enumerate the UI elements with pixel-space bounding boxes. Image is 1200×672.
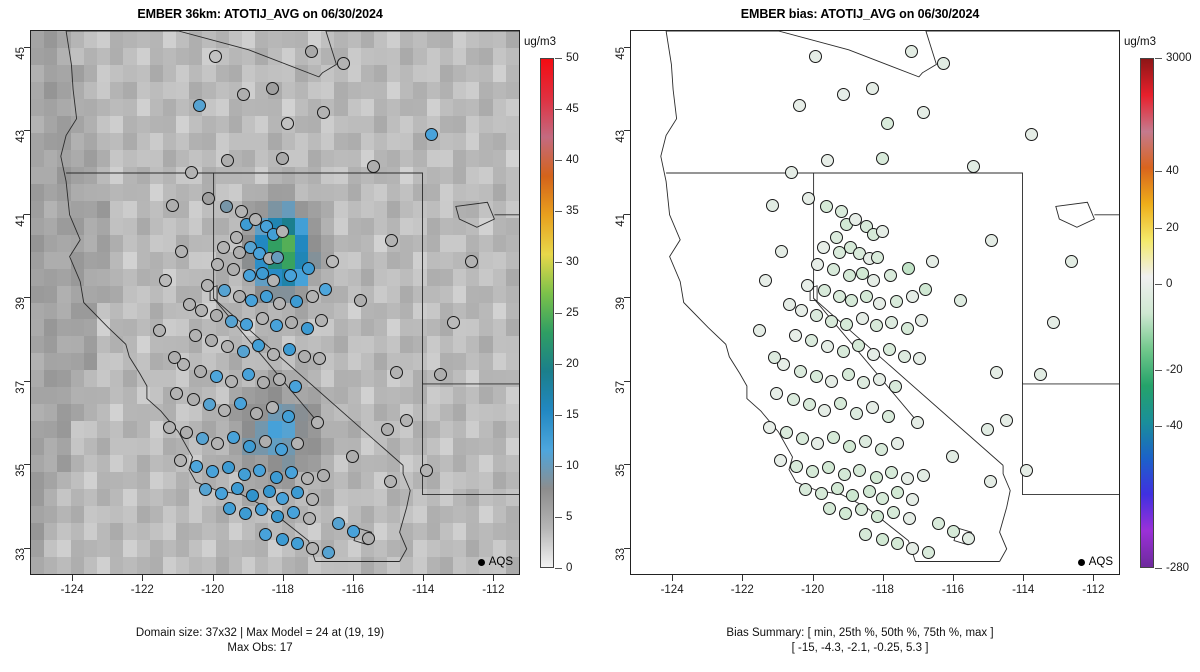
station-marker[interactable] — [759, 274, 772, 287]
colorbar-tick — [555, 517, 562, 518]
station-marker[interactable] — [780, 426, 793, 439]
station-marker[interactable] — [871, 251, 884, 264]
station-marker[interactable] — [420, 464, 433, 477]
station-marker[interactable] — [238, 468, 251, 481]
station-marker[interactable] — [825, 375, 838, 388]
station-marker[interactable] — [845, 294, 858, 307]
station-marker[interactable] — [802, 192, 815, 205]
colorbar-tick — [555, 160, 562, 161]
station-marker[interactable] — [915, 314, 928, 327]
y-tick-label: 37 — [615, 381, 627, 394]
x-tick — [672, 575, 673, 581]
x-tick — [493, 575, 494, 581]
lake-path — [1056, 202, 1095, 227]
y-tick-label: 33 — [615, 548, 627, 561]
station-marker[interactable] — [917, 469, 930, 482]
station-marker[interactable] — [860, 290, 873, 303]
y-tick-label: 35 — [615, 464, 627, 477]
x-tick-label: -122 — [131, 584, 154, 596]
station-marker[interactable] — [166, 199, 179, 212]
station-marker[interactable] — [822, 461, 835, 474]
colorbar-tick — [1155, 568, 1162, 569]
station-marker[interactable] — [252, 339, 265, 352]
station-marker[interactable] — [901, 322, 914, 335]
station-marker[interactable] — [795, 304, 808, 317]
station-marker[interactable] — [884, 269, 897, 282]
station-marker[interactable] — [315, 314, 328, 327]
colorbar-tick — [555, 364, 562, 365]
colorbar-tick — [1155, 284, 1162, 285]
colorbar-tick — [1155, 58, 1162, 59]
station-marker[interactable] — [867, 274, 880, 287]
map-plot-left[interactable]: AQS — [30, 30, 520, 575]
station-marker[interactable] — [231, 482, 244, 495]
station-marker[interactable] — [857, 376, 870, 389]
colorbar-tick — [555, 415, 562, 416]
y-tick-label: 35 — [15, 464, 27, 477]
station-marker[interactable] — [883, 343, 896, 356]
station-marker[interactable] — [947, 525, 960, 538]
station-marker[interactable] — [852, 339, 865, 352]
colorbar-units-right: ug/m3 — [1124, 36, 1156, 48]
station-marker[interactable] — [1000, 414, 1013, 427]
station-marker[interactable] — [354, 294, 367, 307]
station-marker[interactable] — [187, 393, 200, 406]
station-marker[interactable] — [347, 525, 360, 538]
station-marker[interactable] — [242, 368, 255, 381]
colorbar-left[interactable]: ug/m3 05101520253035404550 — [528, 58, 608, 573]
colorbar-tick-label: 5 — [566, 511, 572, 523]
x-tick-label: -124 — [61, 584, 84, 596]
y-tick-label: 43 — [615, 130, 627, 143]
state-border-path — [1023, 382, 1120, 495]
y-tick-label: 37 — [15, 381, 27, 394]
station-marker[interactable] — [306, 542, 319, 555]
colorbar-tick-label: 0 — [1166, 278, 1172, 290]
station-marker[interactable] — [217, 241, 230, 254]
station-marker[interactable] — [289, 380, 302, 393]
x-tick — [283, 575, 284, 581]
station-marker[interactable] — [400, 414, 413, 427]
colorbar-tick — [555, 568, 562, 569]
x-tick — [213, 575, 214, 581]
colorbar-tick-label: -40 — [1166, 420, 1183, 432]
station-marker[interactable] — [855, 503, 868, 516]
colorbar-tick-label: -280 — [1166, 562, 1189, 574]
station-marker[interactable] — [202, 192, 215, 205]
station-marker[interactable] — [821, 340, 834, 353]
station-marker[interactable] — [796, 432, 809, 445]
caption-left-line1: Domain size: 37x32 | Max Model = 24 at (… — [0, 626, 520, 641]
station-marker[interactable] — [922, 546, 935, 559]
colorbar-tick — [1155, 171, 1162, 172]
state-border-path — [1000, 465, 1011, 561]
x-axis-right: -124-122-120-118-116-114-112 — [630, 575, 1120, 615]
caption-right-line2: [ -15, -4.3, -2.1, -0.25, 5.3 ] — [600, 641, 1120, 656]
colorbar-tick — [555, 109, 562, 110]
station-marker[interactable] — [891, 537, 904, 550]
station-marker[interactable] — [255, 503, 268, 516]
station-marker[interactable] — [870, 471, 883, 484]
station-marker[interactable] — [790, 460, 803, 473]
colorbar-tick — [1155, 228, 1162, 229]
station-marker[interactable] — [221, 340, 234, 353]
station-marker[interactable] — [837, 88, 850, 101]
station-marker[interactable] — [194, 365, 207, 378]
station-marker[interactable] — [890, 295, 903, 308]
x-tick-label: -124 — [661, 584, 684, 596]
station-marker[interactable] — [189, 329, 202, 342]
station-marker[interactable] — [871, 510, 884, 523]
y-axis-left: 33353739414345 — [0, 30, 30, 575]
station-marker[interactable] — [794, 365, 807, 378]
station-marker[interactable] — [775, 245, 788, 258]
page-title-right: EMBER bias: ATOTIJ_AVG on 06/30/2024 — [600, 7, 1120, 21]
x-tick — [142, 575, 143, 581]
station-marker[interactable] — [317, 106, 330, 119]
colorbar-gradient-right — [1140, 58, 1154, 568]
station-marker[interactable] — [175, 245, 188, 258]
station-marker[interactable] — [298, 350, 311, 363]
colorbar-right[interactable]: ug/m3 -280-40-20020403000 — [1128, 58, 1200, 573]
x-axis-left: -124-122-120-118-116-114-112 — [30, 575, 520, 615]
state-border-path — [423, 382, 520, 495]
colorbar-tick — [1155, 370, 1162, 371]
station-marker[interactable] — [159, 274, 172, 287]
station-marker[interactable] — [250, 407, 263, 420]
x-tick-label: -116 — [342, 584, 364, 596]
station-marker[interactable] — [260, 290, 273, 303]
station-marker[interactable] — [263, 485, 276, 498]
station-marker[interactable] — [243, 269, 256, 282]
station-marker[interactable] — [271, 510, 284, 523]
station-marker[interactable] — [222, 461, 235, 474]
station-marker[interactable] — [221, 154, 234, 167]
station-marker[interactable] — [887, 506, 900, 519]
x-tick-label: -114 — [1012, 584, 1034, 596]
station-marker[interactable] — [225, 375, 238, 388]
y-axis-right: 33353739414345 — [600, 30, 630, 575]
station-marker[interactable] — [332, 517, 345, 530]
station-marker[interactable] — [276, 225, 289, 238]
colorbar-units-left: ug/m3 — [524, 36, 556, 48]
station-marker[interactable] — [1034, 368, 1047, 381]
station-marker[interactable] — [876, 152, 889, 165]
map-plot-right[interactable]: AQS — [630, 30, 1120, 575]
figure-root: EMBER 36km: ATOTIJ_AVG on 06/30/2024 AQS… — [0, 0, 1200, 672]
station-marker[interactable] — [793, 99, 806, 112]
x-tick-label: -118 — [872, 584, 894, 596]
station-marker[interactable] — [266, 82, 279, 95]
station-marker[interactable] — [237, 88, 250, 101]
station-marker[interactable] — [905, 45, 918, 58]
colorbar-tick — [1155, 426, 1162, 427]
station-marker[interactable] — [235, 205, 248, 218]
station-marker[interactable] — [243, 440, 256, 453]
station-marker[interactable] — [906, 290, 919, 303]
station-marker[interactable] — [273, 297, 286, 310]
colorbar-tick — [555, 466, 562, 467]
colorbar-tick-label: 15 — [566, 409, 579, 421]
station-marker[interactable] — [285, 316, 298, 329]
station-marker[interactable] — [831, 482, 844, 495]
station-marker[interactable] — [801, 279, 814, 292]
lake-path — [456, 202, 495, 227]
station-marker[interactable] — [180, 426, 193, 439]
station-marker[interactable] — [193, 99, 206, 112]
station-marker[interactable] — [282, 410, 295, 423]
station-marker[interactable] — [787, 393, 800, 406]
x-tick — [423, 575, 424, 581]
station-marker[interactable] — [903, 512, 916, 525]
y-tick-label: 45 — [15, 47, 27, 60]
station-marker[interactable] — [882, 410, 895, 423]
station-marker[interactable] — [185, 166, 198, 179]
station-marker[interactable] — [753, 324, 766, 337]
station-marker[interactable] — [434, 368, 447, 381]
state-border-path — [66, 31, 519, 77]
x-tick — [72, 575, 73, 581]
station-marker[interactable] — [876, 533, 889, 546]
station-marker[interactable] — [902, 262, 915, 275]
x-tick-label: -120 — [201, 584, 224, 596]
station-marker[interactable] — [919, 283, 932, 296]
station-marker[interactable] — [276, 492, 289, 505]
station-marker[interactable] — [291, 437, 304, 450]
x-tick — [813, 575, 814, 581]
station-marker[interactable] — [866, 82, 879, 95]
station-marker[interactable] — [425, 128, 438, 141]
station-marker[interactable] — [827, 431, 840, 444]
colorbar-tick-label: 35 — [566, 205, 579, 217]
colorbar-tick-label: 10 — [566, 460, 579, 472]
station-marker[interactable] — [346, 450, 359, 463]
panel-bias: EMBER bias: ATOTIJ_AVG on 06/30/2024 AQS… — [600, 0, 1200, 672]
station-marker[interactable] — [850, 407, 863, 420]
station-marker[interactable] — [322, 546, 335, 559]
station-marker[interactable] — [153, 324, 166, 337]
station-marker[interactable] — [1020, 464, 1033, 477]
station-marker[interactable] — [823, 502, 836, 515]
colorbar-tick-label: 0 — [566, 562, 572, 574]
colorbar-tick-label: 50 — [566, 52, 579, 64]
station-marker[interactable] — [190, 460, 203, 473]
station-marker[interactable] — [267, 274, 280, 287]
station-marker[interactable] — [311, 416, 324, 429]
station-marker[interactable] — [906, 542, 919, 555]
station-marker[interactable] — [276, 152, 289, 165]
caption-left-line2: Max Obs: 17 — [0, 641, 520, 656]
station-marker[interactable] — [954, 294, 967, 307]
station-marker[interactable] — [838, 468, 851, 481]
colorbar-tick-label: 25 — [566, 307, 579, 319]
y-tick-label: 39 — [615, 297, 627, 310]
caption-left: Domain size: 37x32 | Max Model = 24 at (… — [0, 626, 520, 656]
aqs-legend-right: AQS — [1078, 556, 1113, 568]
station-marker[interactable] — [891, 486, 904, 499]
y-tick-label: 41 — [615, 214, 627, 227]
station-marker[interactable] — [873, 297, 886, 310]
station-marker[interactable] — [319, 283, 332, 296]
x-tick — [883, 575, 884, 581]
station-marker[interactable] — [168, 351, 181, 364]
y-tick-label: 45 — [615, 47, 627, 60]
x-tick-label: -116 — [942, 584, 964, 596]
x-tick — [953, 575, 954, 581]
station-marker[interactable] — [817, 241, 830, 254]
station-marker[interactable] — [932, 517, 945, 530]
x-tick-label: -112 — [1082, 584, 1104, 596]
station-marker[interactable] — [284, 269, 297, 282]
aqs-legend-left: AQS — [478, 556, 513, 568]
aqs-legend-label: AQS — [1089, 556, 1113, 568]
x-tick-label: -118 — [272, 584, 294, 596]
aqs-legend-label: AQS — [489, 556, 513, 568]
colorbar-tick — [555, 211, 562, 212]
station-marker[interactable] — [856, 312, 869, 325]
station-marker[interactable] — [302, 262, 315, 275]
station-marker[interactable] — [818, 284, 831, 297]
colorbar-tick-label: -20 — [1166, 364, 1183, 376]
station-marker[interactable] — [337, 57, 350, 70]
station-marker[interactable] — [257, 376, 270, 389]
station-marker[interactable] — [223, 502, 236, 515]
y-tick-label: 39 — [15, 297, 27, 310]
station-marker[interactable] — [201, 279, 214, 292]
station-marker[interactable] — [875, 443, 888, 456]
station-marker[interactable] — [447, 316, 460, 329]
x-tick-label: -122 — [731, 584, 754, 596]
x-tick — [353, 575, 354, 581]
x-tick — [1023, 575, 1024, 581]
station-marker[interactable] — [245, 294, 258, 307]
station-marker[interactable] — [937, 57, 950, 70]
station-marker[interactable] — [821, 154, 834, 167]
colorbar-tick — [555, 58, 562, 59]
x-tick-label: -112 — [482, 584, 504, 596]
colorbar-tick-label: 40 — [566, 154, 579, 166]
station-marker[interactable] — [301, 322, 314, 335]
station-marker[interactable] — [898, 350, 911, 363]
station-marker[interactable] — [843, 269, 856, 282]
station-marker[interactable] — [287, 506, 300, 519]
station-marker[interactable] — [275, 443, 288, 456]
station-marker[interactable] — [317, 469, 330, 482]
station-marker[interactable] — [785, 166, 798, 179]
y-tick-label: 33 — [15, 548, 27, 561]
y-tick-label: 43 — [15, 130, 27, 143]
state-border-path — [400, 465, 411, 561]
colorbar-gradient-left — [540, 58, 554, 568]
colorbar-tick-label: 45 — [566, 103, 579, 115]
station-marker[interactable] — [195, 304, 208, 317]
station-marker[interactable] — [889, 380, 902, 393]
x-tick-label: -120 — [801, 584, 824, 596]
station-marker[interactable] — [766, 199, 779, 212]
station-marker[interactable] — [835, 205, 848, 218]
colorbar-tick-label: 20 — [1166, 222, 1179, 234]
station-marker[interactable] — [911, 416, 924, 429]
station-marker[interactable] — [774, 454, 787, 467]
station-marker[interactable] — [256, 312, 269, 325]
x-tick — [742, 575, 743, 581]
station-marker[interactable] — [276, 533, 289, 546]
station-marker[interactable] — [763, 421, 776, 434]
station-marker[interactable] — [306, 290, 319, 303]
panel-model: EMBER 36km: ATOTIJ_AVG on 06/30/2024 AQS… — [0, 0, 600, 672]
station-marker[interactable] — [863, 485, 876, 498]
station-marker[interactable] — [291, 486, 304, 499]
x-tick — [1093, 575, 1094, 581]
station-marker[interactable] — [271, 251, 284, 264]
station-marker[interactable] — [259, 528, 272, 541]
station-marker[interactable] — [891, 437, 904, 450]
station-marker[interactable] — [290, 295, 303, 308]
station-marker[interactable] — [842, 368, 855, 381]
aqs-dot-icon — [478, 559, 485, 566]
station-marker[interactable] — [283, 343, 296, 356]
station-marker[interactable] — [227, 431, 240, 444]
station-marker[interactable] — [789, 329, 802, 342]
station-marker[interactable] — [917, 106, 930, 119]
colorbar-tick — [555, 313, 562, 314]
aqs-dot-icon — [1078, 559, 1085, 566]
station-marker[interactable] — [174, 454, 187, 467]
colorbar-tick — [555, 262, 562, 263]
station-marker[interactable] — [876, 492, 889, 505]
station-marker[interactable] — [946, 450, 959, 463]
station-marker[interactable] — [270, 471, 283, 484]
x-tick-label: -114 — [412, 584, 434, 596]
station-marker[interactable] — [843, 440, 856, 453]
caption-right: Bias Summary: [ min, 25th %, 50th %, 75t… — [600, 626, 1120, 656]
station-marker[interactable] — [859, 435, 872, 448]
state-border-path — [666, 31, 1119, 77]
colorbar-tick-label: 30 — [566, 256, 579, 268]
y-tick-label: 41 — [15, 214, 27, 227]
colorbar-tick-label: 40 — [1166, 165, 1179, 177]
colorbar-tick-label: 20 — [566, 358, 579, 370]
station-marker[interactable] — [259, 435, 272, 448]
station-marker[interactable] — [291, 537, 304, 550]
station-marker[interactable] — [163, 421, 176, 434]
colorbar-tick-label: 3000 — [1166, 52, 1192, 64]
station-marker[interactable] — [1047, 316, 1060, 329]
caption-right-line1: Bias Summary: [ min, 25th %, 50th %, 75t… — [600, 626, 1120, 641]
station-marker[interactable] — [768, 351, 781, 364]
station-marker[interactable] — [196, 432, 209, 445]
station-marker[interactable] — [881, 117, 894, 130]
station-marker[interactable] — [303, 512, 316, 525]
station-marker[interactable] — [876, 225, 889, 238]
station-marker[interactable] — [1025, 128, 1038, 141]
station-marker[interactable] — [859, 528, 872, 541]
station-marker[interactable] — [218, 284, 231, 297]
station-marker[interactable] — [870, 319, 883, 332]
page-title-left: EMBER 36km: ATOTIJ_AVG on 06/30/2024 — [0, 7, 520, 21]
station-marker[interactable] — [305, 45, 318, 58]
station-marker[interactable] — [885, 316, 898, 329]
station-marker[interactable] — [281, 117, 294, 130]
station-marker[interactable] — [270, 319, 283, 332]
